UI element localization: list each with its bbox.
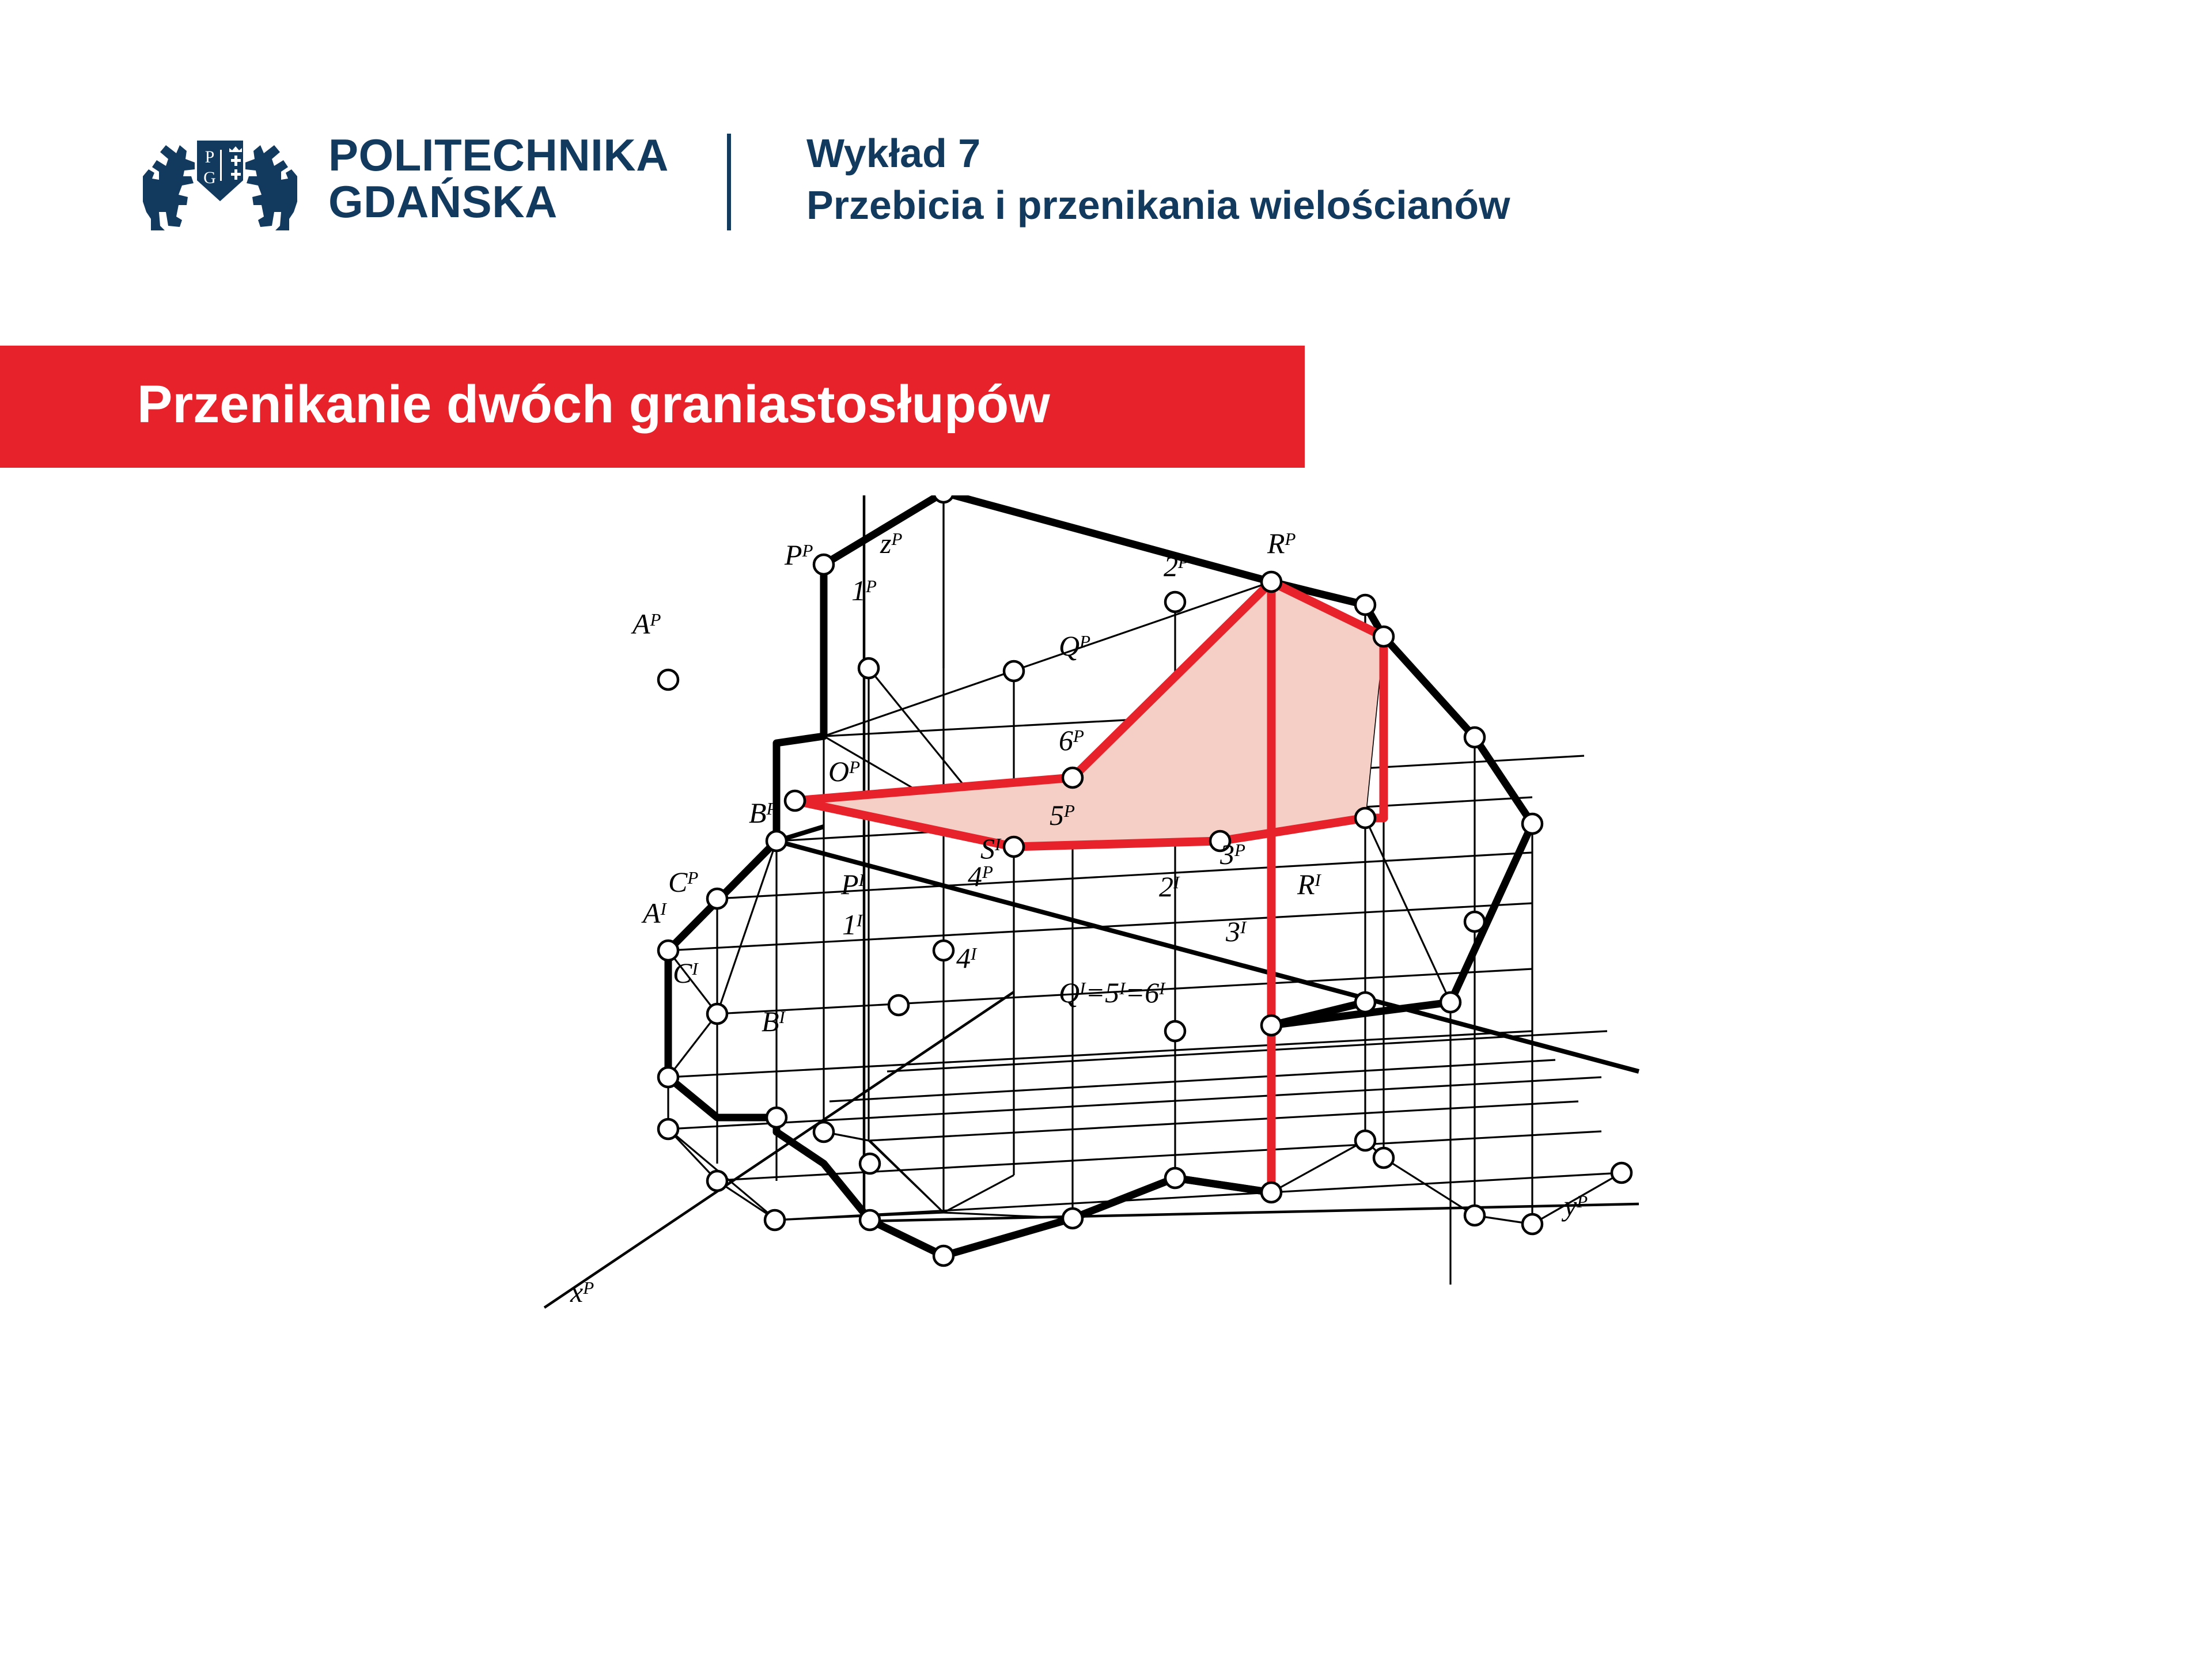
point-label-PI: PI: [840, 868, 866, 900]
slide-title-bar: Przenikanie dwóch graniastosłupów: [0, 346, 1305, 468]
lecture-info: Wykład 7 Przebicia i przenikania wielośc…: [806, 128, 1510, 231]
point-label-RP: RP: [1267, 527, 1296, 559]
point-label-PP: PP: [784, 539, 813, 571]
technical-drawing: zP xP yP SPPPRPAP1P2PQP6POPBP5PSI3PCP4PP…: [0, 495, 2212, 1659]
politechnika-gdanska-crest-icon: P G: [134, 127, 306, 230]
slide-title: Przenikanie dwóch graniastosłupów: [137, 374, 1050, 435]
point-label-4P: 4P: [968, 860, 993, 892]
point-label-SI: SI: [980, 832, 1002, 865]
axis-label-x: xP: [570, 1276, 594, 1308]
point-label-OP: OP: [828, 755, 860, 787]
point-label-4I: 4I: [956, 942, 978, 974]
point-label-CP: CP: [668, 866, 698, 898]
construction-lines: [668, 495, 1639, 1285]
point-label-RI: RI: [1297, 868, 1322, 900]
intersection-polygon-fill: [795, 582, 1384, 847]
point-label-2I: 2I: [1159, 870, 1180, 903]
svg-text:G: G: [203, 168, 216, 187]
axis-label-y: yP: [1561, 1190, 1588, 1222]
point-label-BI: BI: [762, 1005, 786, 1037]
y-axis-line: [864, 1204, 1639, 1221]
slide-header: P G POLITECHNIKA GDAŃSKA Wykład 7 Przebi…: [0, 0, 2212, 300]
point-label-2P: 2P: [1164, 550, 1189, 582]
point-label-QP: QP: [1059, 630, 1090, 662]
university-name: POLITECHNIKA GDAŃSKA: [328, 132, 669, 225]
point-label-AI: AI: [641, 897, 668, 929]
point-label-1I: 1I: [842, 908, 863, 941]
lecture-number: Wykład 7: [806, 128, 1510, 180]
projection-figure: zP xP yP SPPPRPAP1P2PQP6POPBP5PSI3PCP4PP…: [0, 495, 2212, 1659]
university-branding: P G POLITECHNIKA GDAŃSKA: [134, 127, 669, 230]
point-label-AP: AP: [631, 608, 661, 640]
svg-text:P: P: [205, 147, 215, 166]
point-label-6P: 6P: [1059, 724, 1084, 756]
lecture-topic: Przebicia i przenikania wielościanów: [806, 180, 1510, 232]
point-label-3P: 3P: [1219, 838, 1245, 870]
point-label-Q5I6I: QI=5I=6I: [1059, 976, 1166, 1009]
header-divider: [727, 134, 731, 230]
point-label-1P: 1P: [851, 574, 877, 607]
axis-label-z: zP: [880, 527, 902, 559]
point-label-3I: 3I: [1225, 915, 1247, 948]
